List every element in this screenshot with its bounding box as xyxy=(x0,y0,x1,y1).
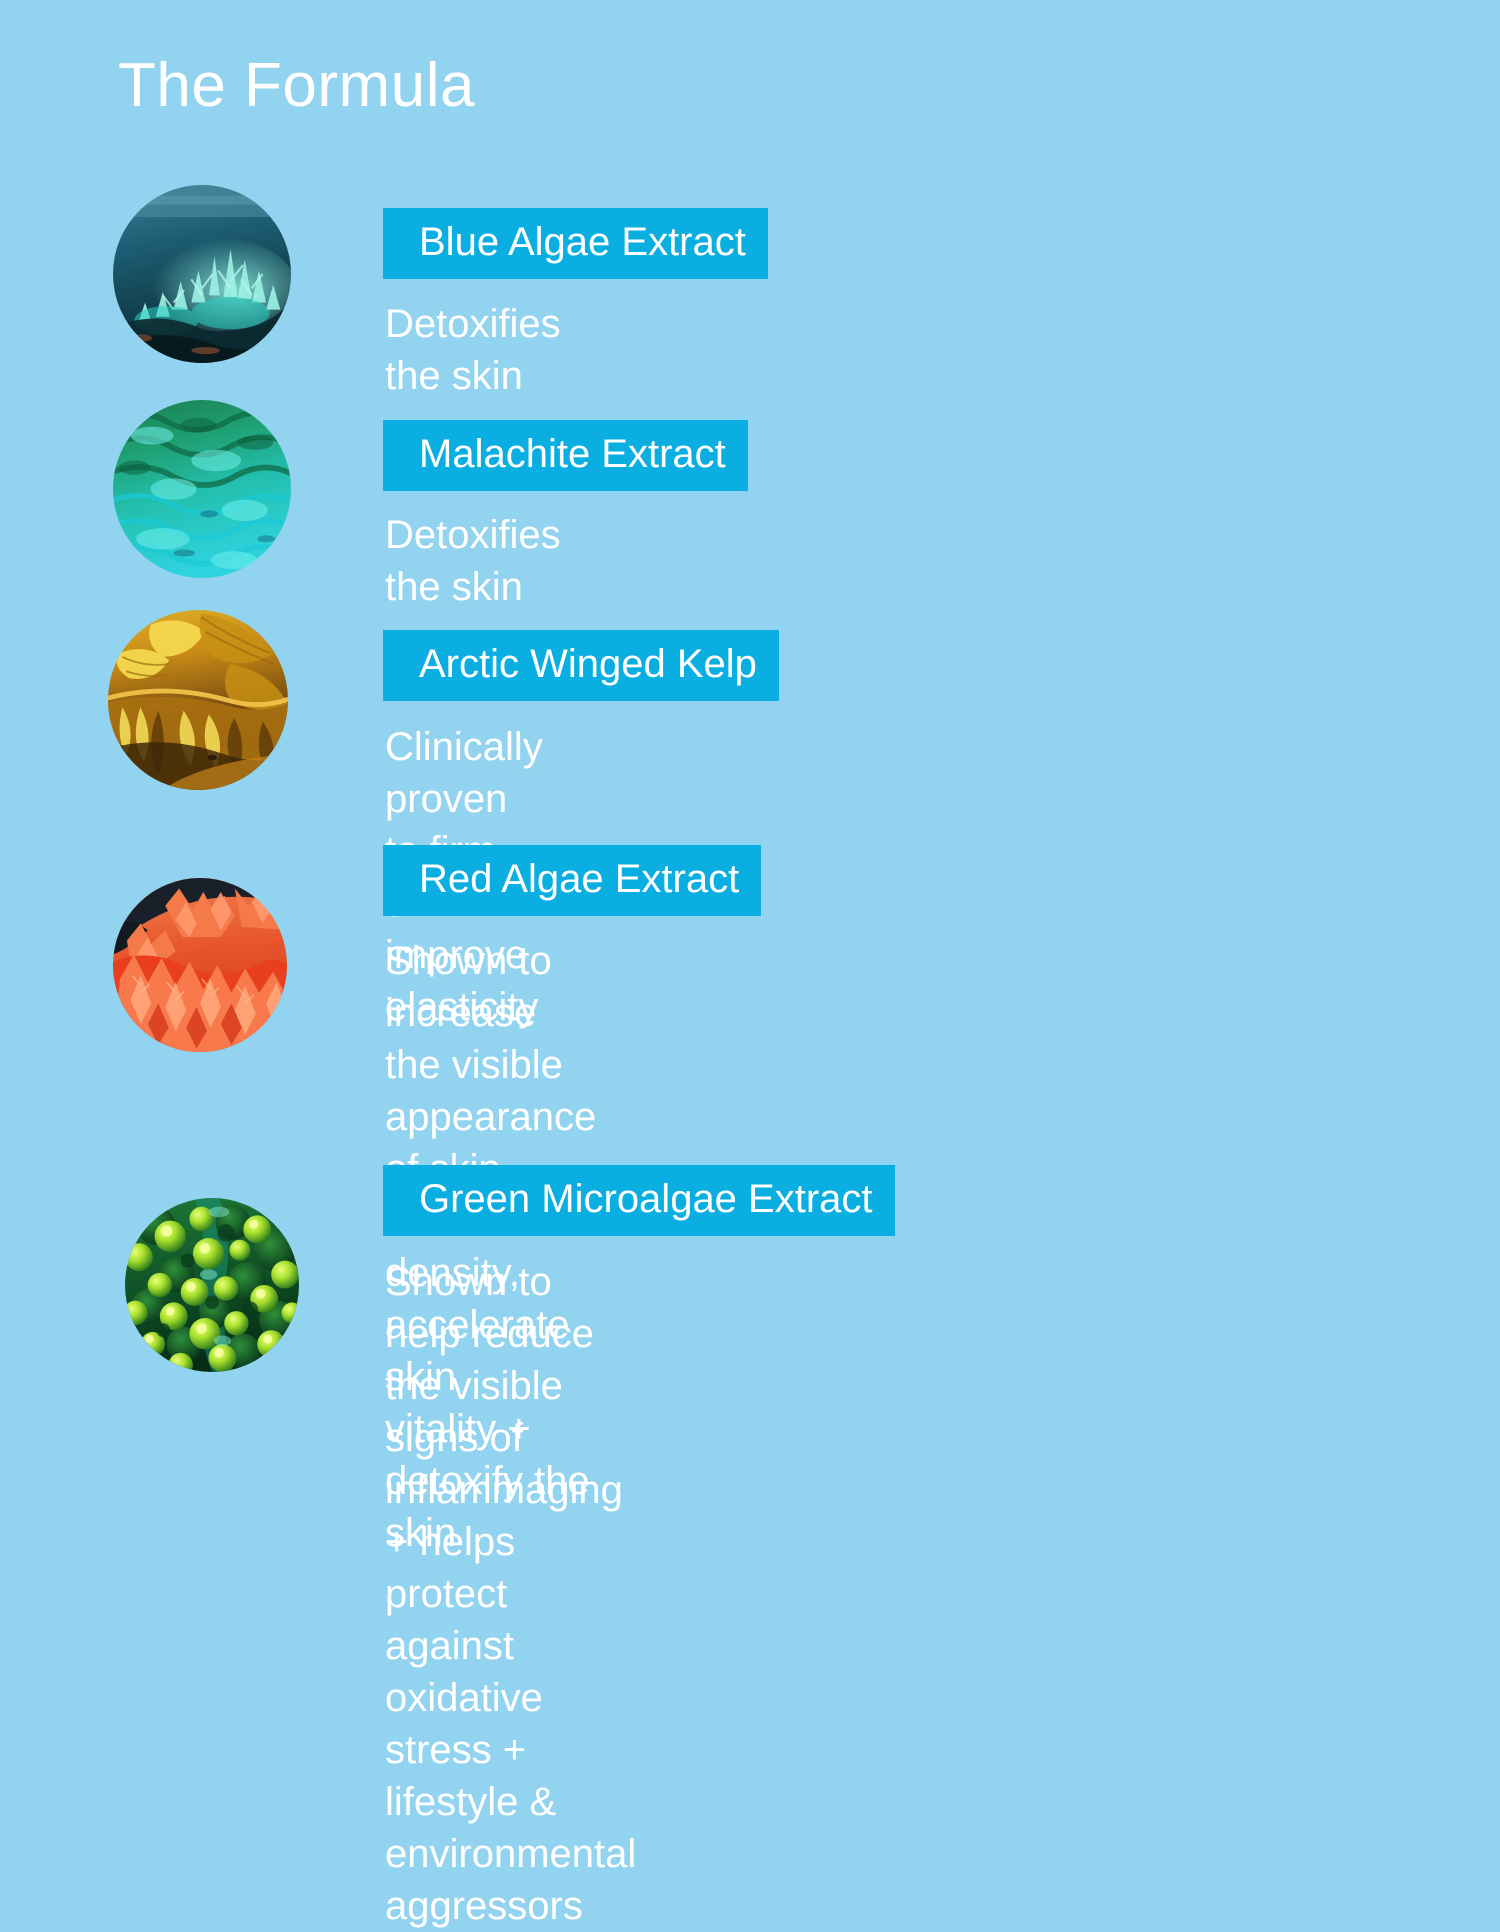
blue-algae-photo xyxy=(113,185,291,363)
malachite-stone-photo xyxy=(113,400,291,578)
ingredient-badge-green-microalgae[interactable]: Green Microalgae Extract xyxy=(383,1165,895,1236)
malachite-artwork xyxy=(113,400,291,578)
blue-algae-artwork xyxy=(113,185,291,363)
ingredient-badge-blue-algae[interactable]: Blue Algae Extract xyxy=(383,208,768,279)
green-microalgae-photo xyxy=(125,1198,299,1372)
green-microalgae-artwork xyxy=(125,1198,299,1372)
ingredient-description-green-microalgae: Shown to help reduce the visible signs o… xyxy=(385,1256,636,1932)
ingredient-badge-red-algae[interactable]: Red Algae Extract xyxy=(383,845,761,916)
ingredient-description-malachite: Detoxifies the skin xyxy=(385,509,561,613)
ingredient-description-blue-algae: Detoxifies the skin xyxy=(385,298,561,402)
page-title: The Formula xyxy=(118,55,475,117)
arctic-winged-kelp-photo xyxy=(108,610,288,790)
red-algae-photo xyxy=(113,878,287,1052)
red-algae-artwork xyxy=(113,878,287,1052)
kelp-artwork xyxy=(108,610,288,790)
ingredient-badge-arctic-winged-kelp[interactable]: Arctic Winged Kelp xyxy=(383,630,779,701)
ingredient-badge-malachite[interactable]: Malachite Extract xyxy=(383,420,748,491)
